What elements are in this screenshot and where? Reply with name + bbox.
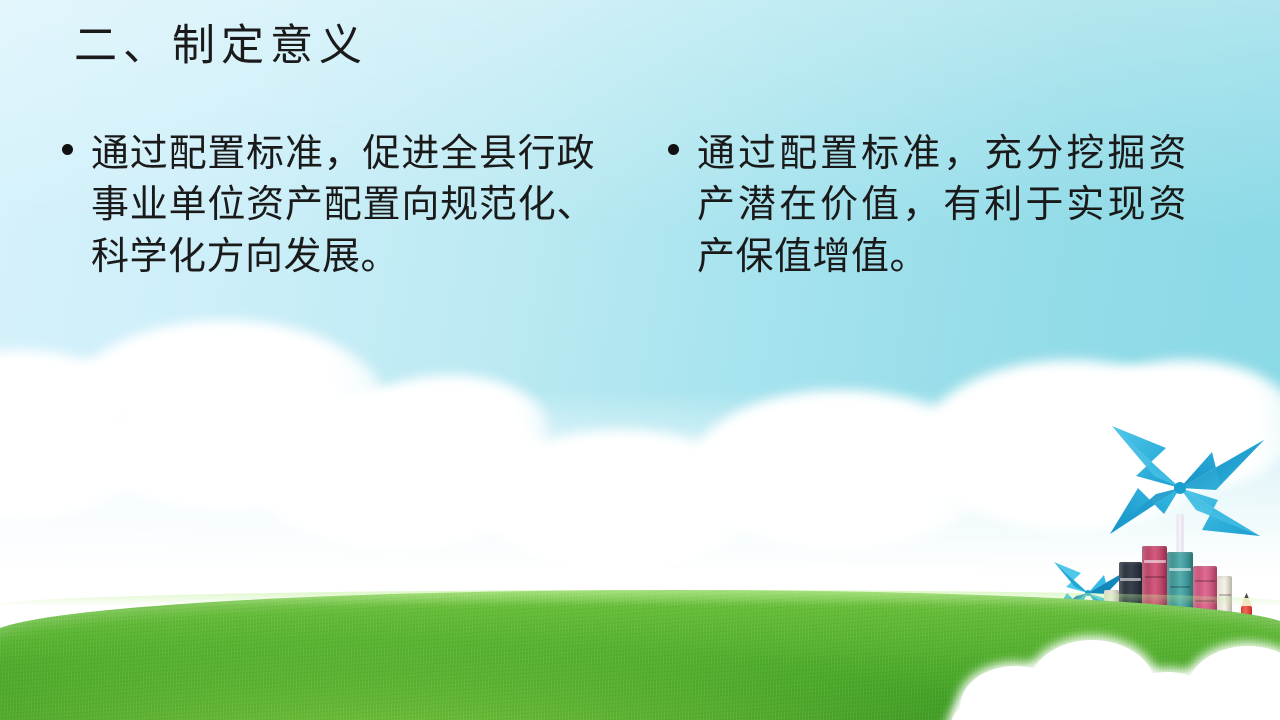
grass-texture (0, 590, 1280, 720)
bullet-column-left: 通过配置标准，促进全县行政事业单位资产配置向规范化、科学化方向发展。 (62, 128, 642, 282)
grass-hill (0, 590, 1280, 720)
bullet-text-2: 通过配置标准，充分挖掘资产潜在价值，有利于实现资产保值增值。 (697, 128, 1187, 282)
presentation-slide: 二、制定意义 通过配置标准，促进全县行政事业单位资产配置向规范化、科学化方向发展… (0, 0, 1280, 720)
bullet-column-right: 通过配置标准，充分挖掘资产潜在价值，有利于实现资产保值增值。 (668, 128, 1228, 282)
grass-body (0, 590, 1280, 720)
bullet-text-1: 通过配置标准，促进全县行政事业单位资产配置向规范化、科学化方向发展。 (91, 128, 595, 282)
content-body: 通过配置标准，促进全县行政事业单位资产配置向规范化、科学化方向发展。 通过配置标… (62, 128, 1222, 282)
bullet-marker-icon (668, 144, 679, 155)
grass-top-highlight (0, 590, 1280, 606)
bullet-marker-icon (62, 144, 73, 155)
slide-title: 二、制定意义 (74, 22, 368, 70)
